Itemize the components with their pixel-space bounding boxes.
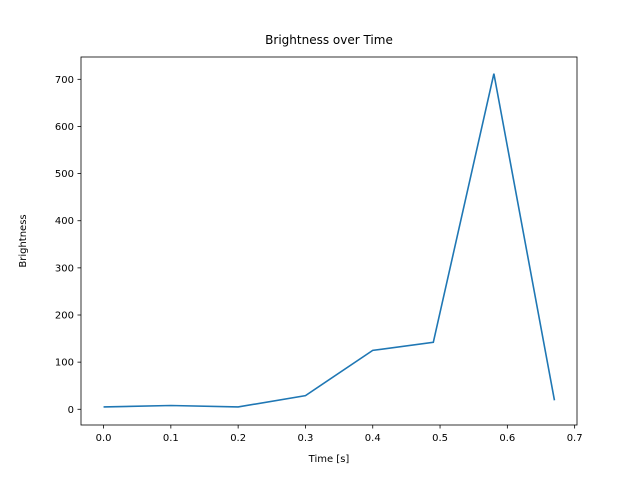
y-tick-label: 300: [55, 263, 74, 274]
y-axis-label: Brightness: [18, 214, 29, 267]
x-tick-label: 0.3: [297, 433, 313, 444]
x-tick-label: 0.6: [499, 433, 515, 444]
y-tick-label: 600: [55, 122, 74, 133]
y-tick-label: 500: [55, 169, 74, 180]
plot-area: [81, 57, 577, 425]
x-tick-label: 0.5: [432, 433, 448, 444]
brightness-over-time-chart: Brightness over Time 0.00.10.20.30.40.50…: [0, 0, 640, 480]
y-tick-label: 700: [55, 75, 74, 86]
x-tick-label: 0.0: [96, 433, 112, 444]
x-tick-label: 0.1: [163, 433, 179, 444]
y-tick-label: 200: [55, 311, 74, 322]
x-tick-label: 0.7: [567, 433, 583, 444]
x-tick-label: 0.4: [365, 433, 381, 444]
y-tick-label: 400: [55, 216, 74, 227]
chart-title: Brightness over Time: [265, 33, 393, 47]
matplotlib-figure: Brightness over Time 0.00.10.20.30.40.50…: [0, 0, 640, 480]
y-tick-label: 100: [55, 358, 74, 369]
y-tick-label: 0: [68, 405, 74, 416]
x-tick-label: 0.2: [230, 433, 246, 444]
x-axis-label: Time [s]: [308, 454, 350, 465]
